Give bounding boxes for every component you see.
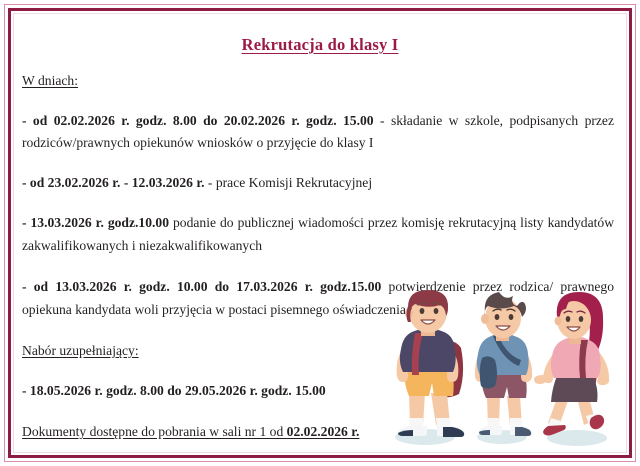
documents-note: Dokumenty dostępne do pobrania w sali nr…	[22, 421, 442, 444]
schedule-item-3-range: - 13.03.2026 r. godz.10.00	[22, 215, 169, 230]
eye-left-1	[420, 308, 425, 314]
schedule-item-4-range: - od 13.03.2026 r. godz. 10.00 do 17.03.…	[22, 279, 381, 294]
schedule-item-1-range: - od 02.02.2026 r. godz. 8.00 do 20.02.2…	[22, 113, 374, 128]
schedule-item-2-range: - od 23.02.2026 r. - 12.03.2026 r.	[22, 175, 205, 190]
ear-3	[555, 317, 562, 326]
documents-note-prefix: Dokumenty dostępne do pobrania w sali nr…	[22, 424, 287, 439]
eye-left-3	[566, 316, 571, 322]
eye-right-1	[434, 308, 439, 314]
supplementary-label: Nabór uzupełniający:	[22, 340, 394, 363]
intro-label-text: W dniach:	[22, 73, 78, 88]
skirt-3	[551, 376, 598, 402]
child-girl-with-backpack	[534, 292, 609, 436]
shoe-right-toe-2	[515, 427, 531, 436]
schedule-item-1: - od 02.02.2026 r. godz. 8.00 do 20.02.2…	[22, 110, 614, 155]
child-boy-with-sling-bag	[475, 292, 532, 436]
schedule-item-2-description: - prace Komisji Rekrutacyjnej	[205, 175, 373, 190]
documents-note-date: 02.02.2026 r.	[287, 424, 360, 439]
supplementary-range-text: - 18.05.2026 r. godz. 8.00 do 29.05.2026…	[22, 383, 326, 398]
eye-right-2	[509, 314, 514, 320]
supplementary-label-text: Nabór uzupełniający:	[22, 343, 139, 358]
shorts-1	[405, 368, 454, 396]
eye-left-2	[495, 314, 500, 320]
sling-bag-2	[480, 356, 497, 388]
supplementary-range: - 18.05.2026 r. godz. 8.00 do 29.05.2026…	[22, 380, 442, 403]
page-title: Rekrutacja do klasy I	[22, 35, 618, 55]
child-boy-with-backpack	[397, 290, 465, 437]
schedule-item-2: - od 23.02.2026 r. - 12.03.2026 r. - pra…	[22, 172, 614, 195]
eye-right-3	[579, 316, 584, 322]
poster-page: Rekrutacja do klasy I W dniach: - od 02.…	[0, 0, 640, 466]
schedule-item-3: - 13.03.2026 r. godz.10.00 podanie do pu…	[22, 212, 614, 257]
hand-front-3	[597, 376, 609, 385]
shoe-right-toe-1	[443, 427, 464, 437]
intro-label: W dniach:	[22, 70, 614, 93]
three-school-children-illustration	[381, 290, 631, 456]
